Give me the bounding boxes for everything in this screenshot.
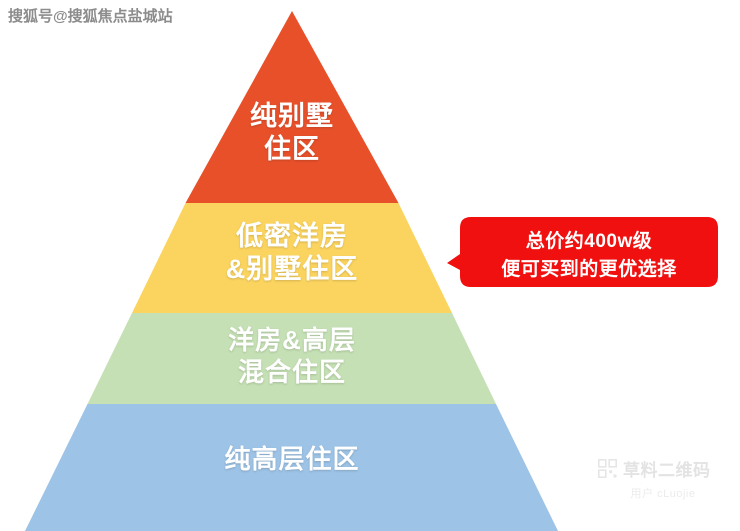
pyramid-tier-mixed[interactable] xyxy=(88,313,497,404)
callout-bubble[interactable]: 总价约400w级 便可买到的更优选择 xyxy=(446,214,722,290)
pyramid-tier-pure-highrise[interactable] xyxy=(25,404,558,531)
callout-text: 总价约400w级 便可买到的更优选择 xyxy=(464,228,714,283)
pyramid-tier-low-density[interactable] xyxy=(132,203,452,313)
pyramid-tier-pure-villa[interactable] xyxy=(186,11,399,203)
diagram-canvas: 搜狐号@搜狐焦点盐城站 纯别墅 住区 低密洋房 &别墅住区 洋房&高层 混合住区… xyxy=(0,0,740,531)
